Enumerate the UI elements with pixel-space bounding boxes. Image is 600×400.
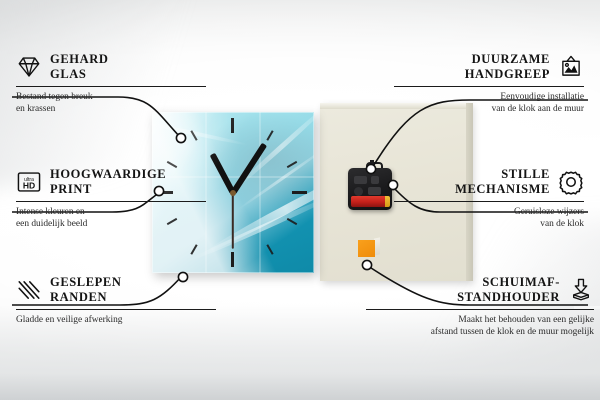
- callout-divider: [366, 309, 594, 310]
- callout-divider: [394, 86, 584, 87]
- callout-description: Intense kleuren en een duidelijk beeld: [16, 206, 206, 230]
- callout-header: SCHUIMAF- STANDHOUDER: [366, 275, 594, 305]
- battery-positive-terminal: [385, 196, 390, 207]
- callout-header: GEHARD GLAS: [16, 52, 206, 82]
- callout-title: GEHARD GLAS: [50, 52, 108, 82]
- mechanism-detail: [354, 176, 367, 184]
- callout-schuimafstandhouder: SCHUIMAF- STANDHOUDER Maakt het behouden…: [366, 275, 594, 338]
- diamond-icon: [16, 54, 42, 80]
- callout-stille-mechanisme: STILLE MECHANISME Geruisloze wijzers van…: [394, 167, 584, 230]
- callout-title: HOOGWAARDIGE PRINT: [50, 167, 166, 197]
- callout-geslepen-randen: GESLEPEN RANDEN Gladde en veilige afwerk…: [16, 275, 216, 326]
- mechanism-dial: [354, 187, 363, 196]
- callout-divider: [16, 309, 216, 310]
- stamp-down-icon: [568, 277, 594, 303]
- callout-divider: [16, 201, 206, 202]
- ultra-hd-icon: ultra HD: [16, 169, 42, 195]
- callout-divider: [16, 86, 206, 87]
- callout-title: DUURZAME HANDGREEP: [465, 52, 550, 82]
- callout-header: DUURZAME HANDGREEP: [394, 52, 584, 82]
- framed-picture-icon: [558, 54, 584, 80]
- diagonal-stripes-icon: [16, 277, 42, 303]
- mechanism-detail: [371, 176, 379, 184]
- product-infographic: GEHARD GLAS Bestand tegen breuk en krass…: [0, 0, 600, 400]
- callout-header: GESLEPEN RANDEN: [16, 275, 216, 305]
- callout-description: Geruisloze wijzers van de klok: [394, 206, 584, 230]
- aa-battery: [351, 196, 389, 207]
- callout-gehard-glas: GEHARD GLAS Bestand tegen breuk en krass…: [16, 52, 206, 115]
- callout-title: STILLE MECHANISME: [455, 167, 550, 197]
- callout-header: ultra HD HOOGWAARDIGE PRINT: [16, 167, 206, 197]
- mechanism-detail: [368, 187, 381, 195]
- callout-header: STILLE MECHANISME: [394, 167, 584, 197]
- callout-description: Eenvoudige installatie van de klok aan d…: [394, 91, 584, 115]
- callout-description: Gladde en veilige afwerking: [16, 314, 216, 326]
- svg-text:HD: HD: [23, 180, 35, 190]
- foam-spacer: [358, 240, 375, 257]
- gear-icon: [558, 169, 584, 195]
- callout-hoogwaardige-print: ultra HD HOOGWAARDIGE PRINT Intense kleu…: [16, 167, 206, 230]
- callout-title: SCHUIMAF- STANDHOUDER: [457, 275, 560, 305]
- callout-title: GESLEPEN RANDEN: [50, 275, 122, 305]
- callout-duurzame-handgreep: DUURZAME HANDGREEP Eenvoudige installati…: [394, 52, 584, 115]
- callout-description: Maakt het behouden van een gelijke afsta…: [366, 314, 594, 338]
- callout-description: Bestand tegen breuk en krassen: [16, 91, 206, 115]
- callout-divider: [394, 201, 584, 202]
